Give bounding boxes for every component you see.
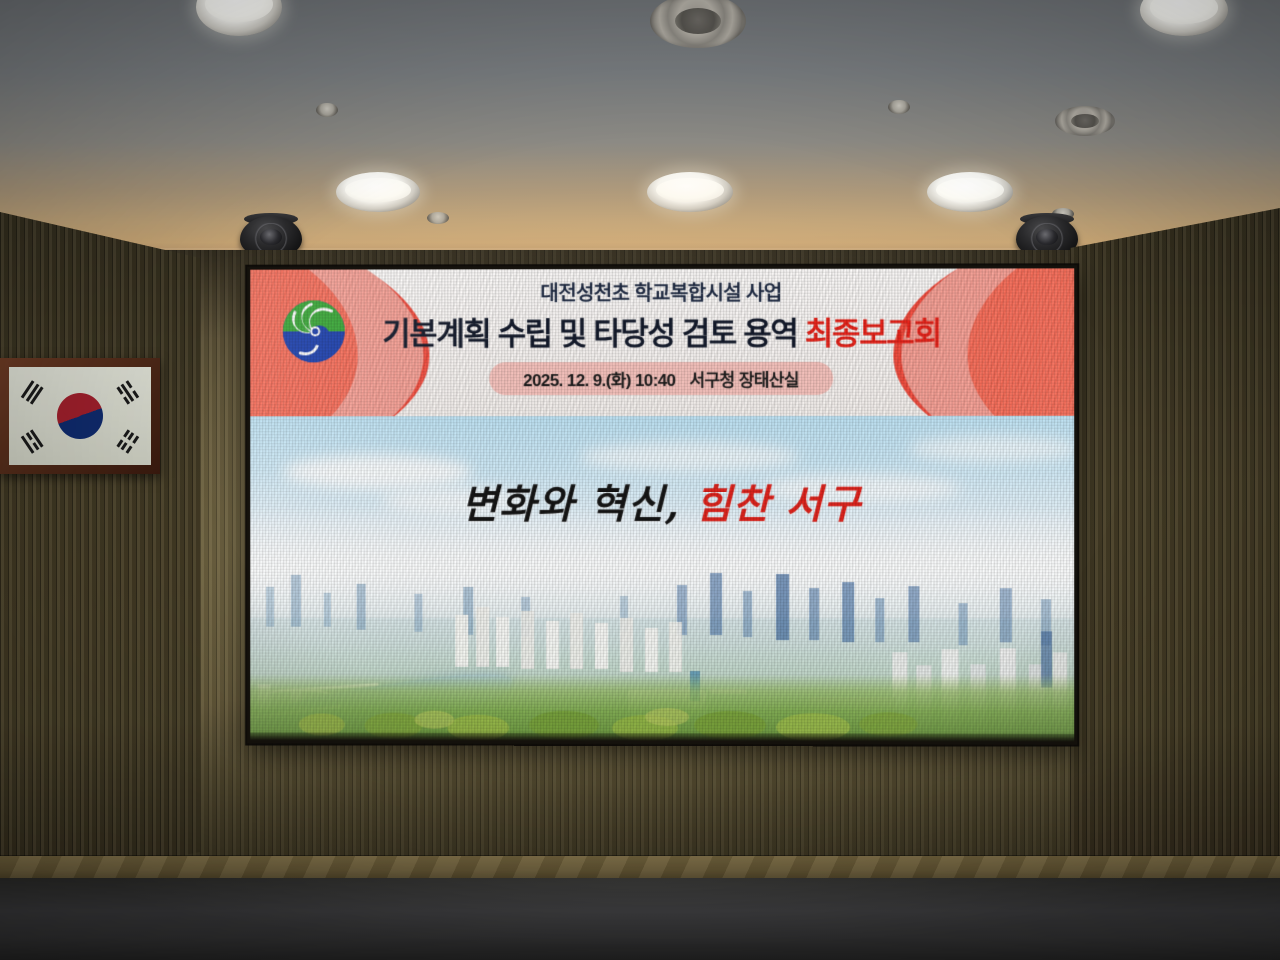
fire-sprinkler-head <box>316 103 338 117</box>
wall-left-return <box>0 212 200 892</box>
banner-title-main: 기본계획 수립 및 타당성 검토 용역 <box>382 316 797 351</box>
trigram-geon-icon <box>21 380 45 406</box>
screen-bottom-edge <box>250 732 1074 741</box>
recessed-downlight <box>336 172 420 212</box>
slogan-black-part: 변화와 혁신, <box>461 481 680 528</box>
ceiling-air-diffuser <box>1055 106 1115 136</box>
recessed-downlight <box>927 172 1013 212</box>
banner-title: 기본계획 수립 및 타당성 검토 용역 최종보고회 <box>250 307 1074 353</box>
trigram-ri-icon <box>21 428 45 454</box>
slogan-red-part: 힘찬 서구 <box>695 481 861 528</box>
banner-subtitle: 대전성천초 학교복합시설 사업 <box>250 276 1074 306</box>
recessed-downlight <box>647 172 733 212</box>
led-video-wall[interactable]: 대전성천초 학교복합시설 사업 기본계획 수립 및 타당성 검토 용역 최종보고… <box>247 265 1077 744</box>
fire-sprinkler-head <box>427 212 449 224</box>
cityscape-photo: 변화와 혁신, 힘찬 서구 <box>250 416 1074 742</box>
taeguk-symbol <box>57 393 103 439</box>
trigram-gam-icon <box>115 380 139 406</box>
recessed-downlight <box>1140 0 1228 36</box>
ceiling <box>0 0 1280 258</box>
city-slogan: 변화와 혁신, 힘찬 서구 <box>250 472 1074 530</box>
floor <box>0 878 1280 960</box>
presentation-banner: 대전성천초 학교복합시설 사업 기본계획 수립 및 타당성 검토 용역 최종보고… <box>250 268 1074 416</box>
recessed-downlight <box>196 0 282 36</box>
banner-text-block: 대전성천초 학교복합시설 사업 기본계획 수립 및 타당성 검토 용역 최종보고… <box>250 276 1074 395</box>
city-skyline <box>250 494 1074 742</box>
screen-surface: 대전성천초 학교복합시설 사업 기본계획 수립 및 타당성 검토 용역 최종보고… <box>250 268 1074 741</box>
banner-schedule-pill: 2025. 12. 9.(화) 10:40서구청 장태산실 <box>489 362 833 395</box>
banner-datetime: 2025. 12. 9.(화) 10:40 <box>523 371 675 390</box>
banner-venue: 서구청 장태산실 <box>689 371 799 390</box>
fire-sprinkler-head <box>888 100 910 114</box>
wall-right-return <box>1070 208 1280 898</box>
banner-title-highlight: 최종보고회 <box>805 316 941 351</box>
trigram-gon-icon <box>115 428 139 454</box>
ceiling-air-diffuser <box>650 0 746 48</box>
taegukgi-flag <box>9 367 151 465</box>
korean-flag-frame <box>0 358 160 474</box>
conference-room-scene: 대전성천초 학교복합시설 사업 기본계획 수립 및 타당성 검토 용역 최종보고… <box>0 0 1280 960</box>
